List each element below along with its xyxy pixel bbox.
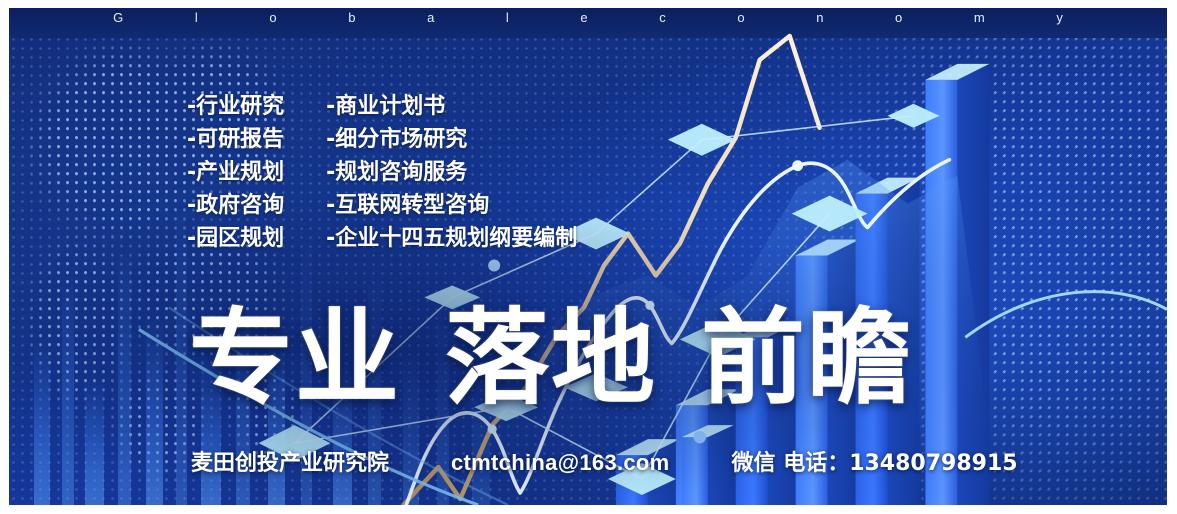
footer-contact-row: 麦田创投产业研究院 ctmtchina@163.com 微信 电话：134807…: [191, 445, 1018, 477]
organization-name: 麦田创投产业研究院: [191, 445, 389, 477]
service-column-left: -行业研究 -可研报告 -产业规划 -政府咨询 -园区规划: [187, 92, 284, 254]
line-node-dot: [694, 431, 706, 443]
service-column-right: -商业计划书 -细分市场研究 -规划咨询服务 -互联网转型咨询 -企业十四五规划…: [326, 92, 577, 254]
service-lists: -行业研究 -可研报告 -产业规划 -政府咨询 -园区规划 -商业计划书 -细分…: [187, 92, 577, 254]
service-item: -商业计划书: [326, 92, 577, 122]
banner-frame: G l o b a l e c o n o m y -行业研究 -可研报告 -产…: [0, 0, 1177, 514]
service-item: -互联网转型咨询: [326, 191, 577, 221]
kicker-global-economy: G l o b a l e c o n o m y: [9, 10, 1167, 25]
service-item: -产业规划: [187, 158, 284, 188]
service-item: -细分市场研究: [326, 125, 577, 155]
horizon-arc-right: [965, 292, 1167, 338]
service-item: -企业十四五规划纲要编制: [326, 224, 577, 254]
headline-word-1: 专业: [189, 306, 401, 410]
service-item: -规划咨询服务: [326, 158, 577, 188]
growth-chart: [9, 8, 1167, 505]
headline: 专业 落地 前瞻: [189, 306, 913, 410]
email-address[interactable]: ctmtchina@163.com: [451, 450, 670, 476]
phone-contact: 微信 电话：13480798915: [732, 445, 1018, 477]
service-item: -可研报告: [187, 125, 284, 155]
headline-word-3: 前瞻: [701, 306, 913, 410]
service-item: -行业研究: [187, 92, 284, 122]
headline-word-2: 落地: [445, 306, 657, 410]
line-node-dot: [792, 160, 803, 171]
banner-stage: G l o b a l e c o n o m y -行业研究 -可研报告 -产…: [9, 8, 1167, 505]
service-item: -政府咨询: [187, 191, 284, 221]
service-item: -园区规划: [187, 224, 284, 254]
line-node-dot: [488, 425, 497, 434]
line-node-dot: [488, 259, 500, 271]
